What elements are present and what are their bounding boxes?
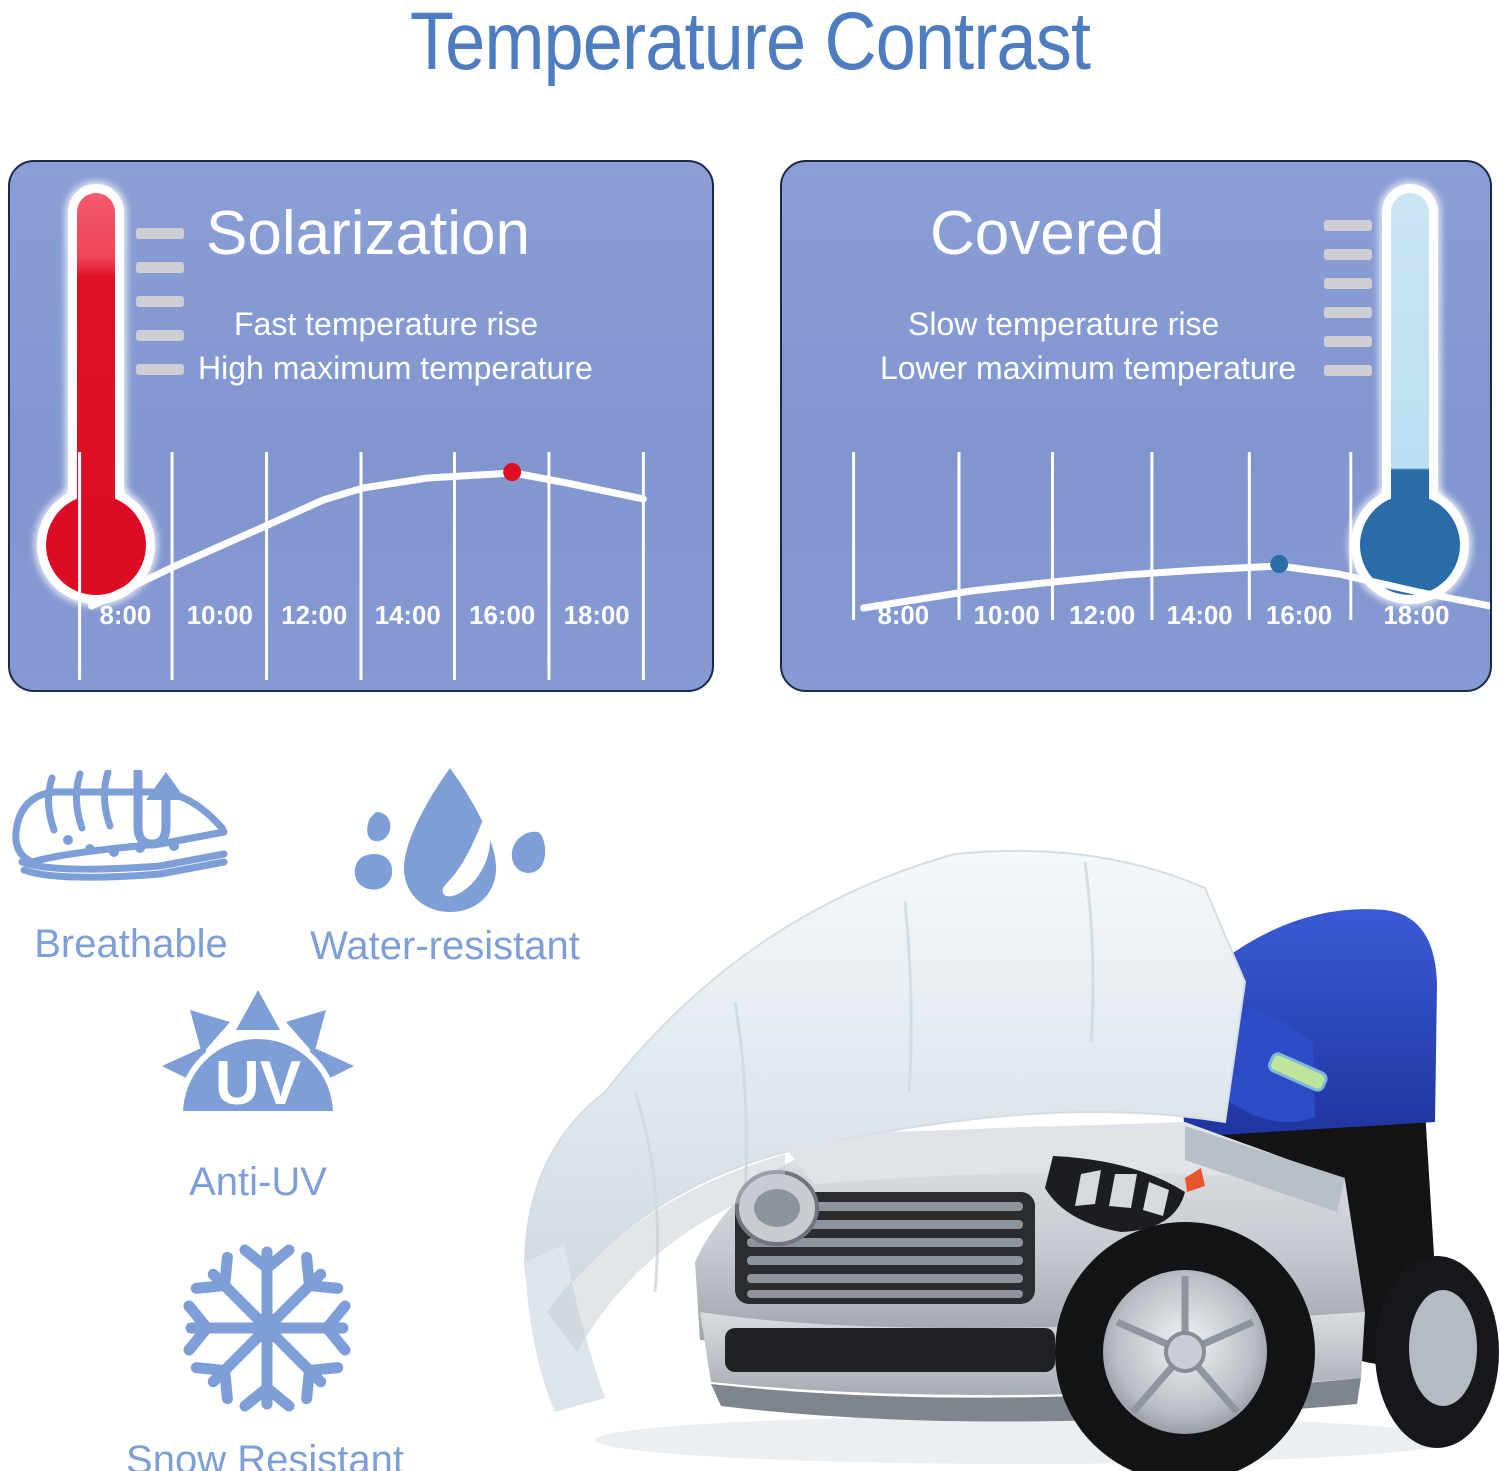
lower-air-intake [725, 1328, 1055, 1372]
panel-solarization: Solarization Fast temperature rise High … [8, 160, 714, 692]
thermometer-tick [1324, 278, 1372, 289]
panel-subtext-line-1: Fast temperature rise [234, 302, 593, 346]
product-photo-suv-with-cover [485, 792, 1500, 1471]
panel-subtext-solarization: Fast temperature rise High maximum tempe… [198, 302, 593, 390]
thermometer-tick [1324, 249, 1372, 260]
thermometer-tick [136, 262, 184, 273]
thermometer-tick [1324, 220, 1372, 231]
chart-line-solarization [92, 473, 644, 606]
uv-icon-text: UV [215, 1049, 301, 1118]
thermometer-tick [1324, 365, 1372, 376]
chart-x-tick-labels: 8:00 10:00 12:00 14:00 16:00 18:00 [877, 602, 1449, 630]
chart-peak-marker [1270, 555, 1288, 573]
thermometer-tick [136, 330, 184, 341]
sun-uv-icon: UV [158, 988, 358, 1155]
panel-covered: Covered Slow temperature rise Lower maxi… [780, 160, 1492, 692]
panel-subtext-covered: Slow temperature rise Lower maximum temp… [880, 302, 1296, 390]
panel-heading-solarization: Solarization [206, 198, 530, 270]
page-title: Temperature Contrast [90, 0, 1410, 88]
chart-tick-label: 14:00 [375, 602, 441, 630]
thermometer-scale-ticks [1324, 220, 1372, 376]
thermometer-tick [1324, 336, 1372, 347]
thermometer-tick [136, 364, 184, 375]
thermometer-scale-ticks [136, 228, 184, 375]
thermometer-tick [1324, 307, 1372, 318]
panel-subtext-line-2: High maximum temperature [198, 346, 593, 390]
chart-tick-label: 12:00 [1069, 602, 1135, 630]
snowflake-icon [177, 1238, 357, 1423]
chart-covered: 8:00 10:00 12:00 14:00 16:00 18:00 [782, 442, 1490, 692]
chart-tick-label: 18:00 [564, 602, 630, 630]
chart-tick-label: 16:00 [469, 602, 535, 630]
feature-label-snow-resistant: Snow Resistant [125, 1436, 405, 1471]
chart-tick-label: 16:00 [1266, 602, 1332, 630]
chart-tick-label: 8:00 [877, 602, 929, 630]
chart-tick-label: 10:00 [974, 602, 1040, 630]
suv-illustration [485, 792, 1500, 1471]
feature-label-breathable: Breathable [2, 920, 260, 968]
feature-label-anti-uv: Anti-UV [132, 1158, 384, 1206]
wheel-hub [1166, 1333, 1204, 1371]
thermometer-tick [136, 296, 184, 307]
chart-tick-label: 14:00 [1167, 602, 1233, 630]
ground-shadow [595, 1416, 1455, 1464]
chart-solarization: 8:00 10:00 12:00 14:00 16:00 18:00 [10, 442, 712, 692]
rear-rim [1409, 1290, 1477, 1406]
panel-heading-covered: Covered [930, 198, 1164, 270]
chart-tick-label: 10:00 [187, 602, 253, 630]
chart-tick-label: 8:00 [99, 602, 151, 630]
thermometer-tick [136, 228, 184, 239]
panel-subtext-line-1: Slow temperature rise [908, 302, 1296, 346]
chart-peak-marker [503, 463, 521, 481]
chart-tick-label: 12:00 [281, 602, 347, 630]
breathable-fabric-icon [10, 770, 240, 925]
panel-subtext-line-2: Lower maximum temperature [880, 346, 1296, 390]
chart-tick-label: 18:00 [1383, 602, 1449, 630]
